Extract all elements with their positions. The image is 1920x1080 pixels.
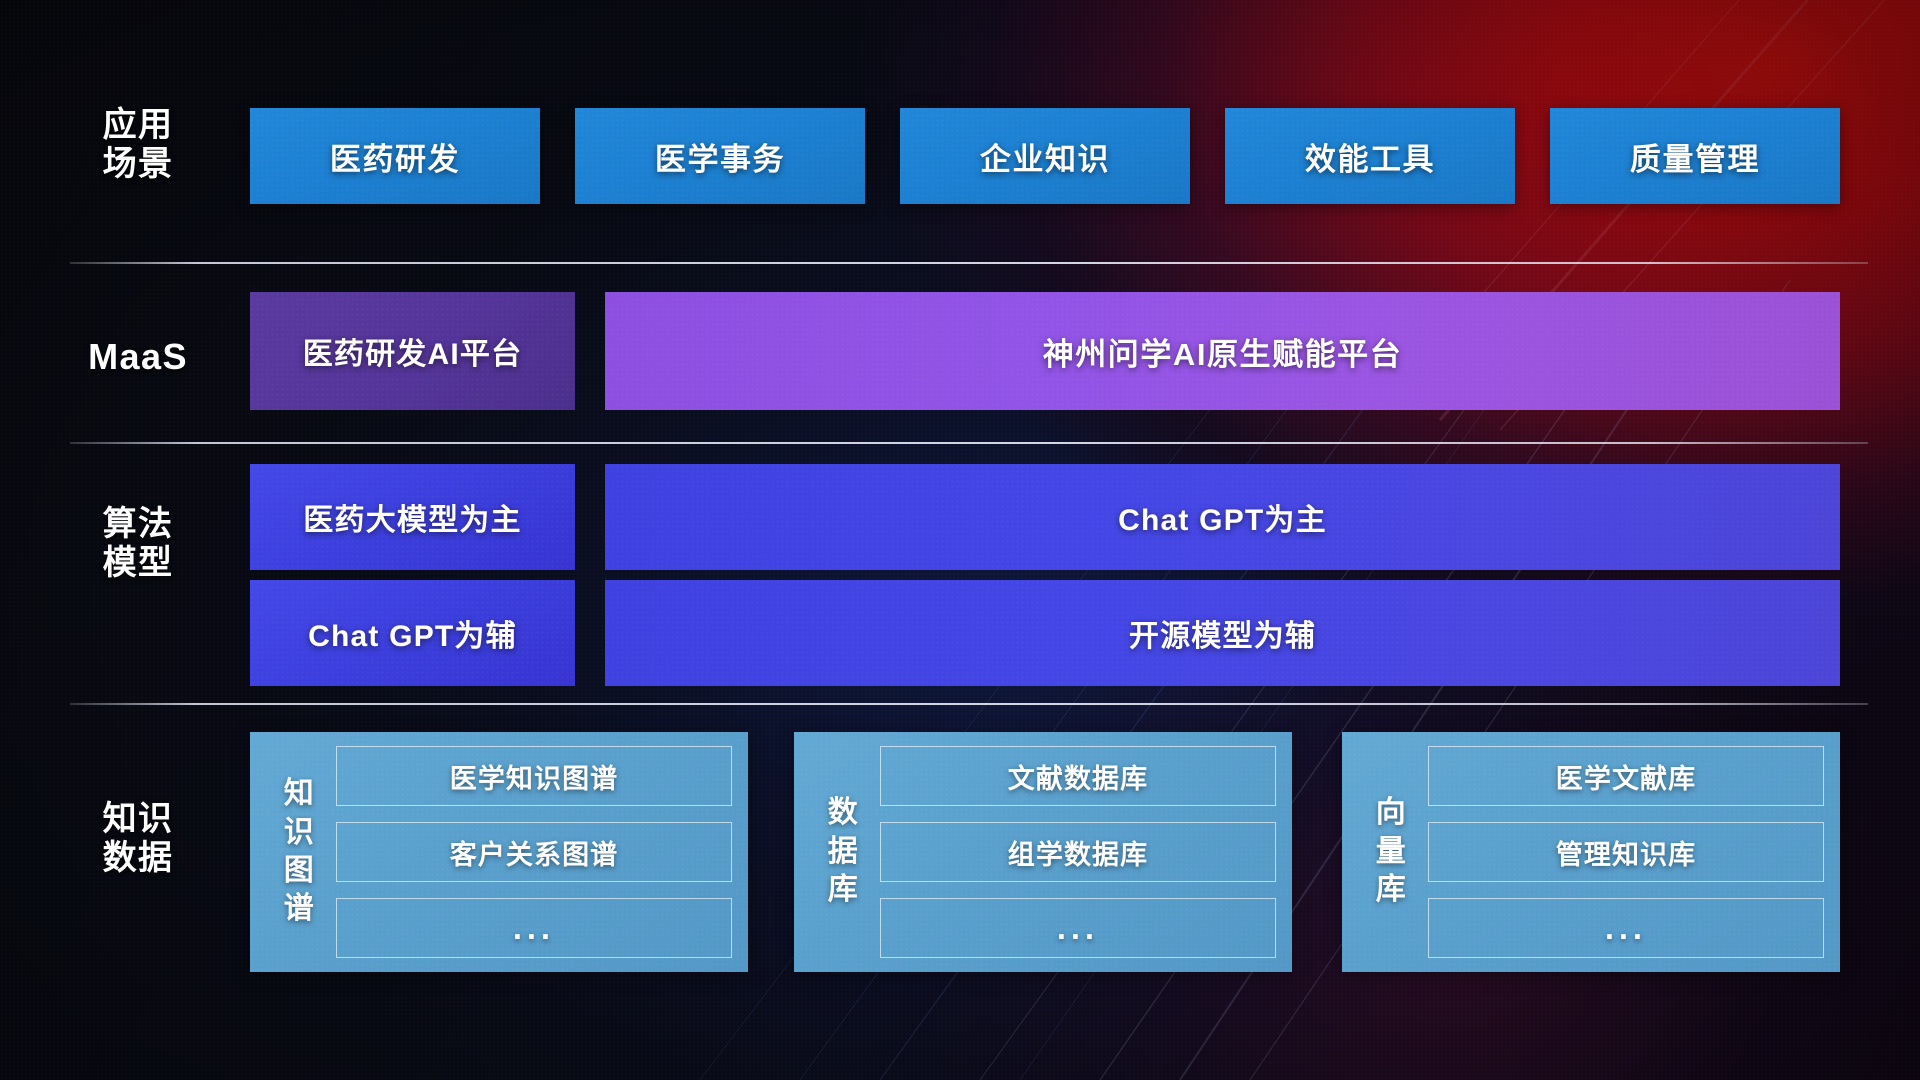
app-scenario-label-1: 医药研发 [330, 134, 460, 179]
knowledge-item-1-3[interactable]: ... [336, 898, 732, 958]
row-label-algorithm-model: 算法 模型 [70, 505, 206, 584]
knowledge-item-1-2[interactable]: 客户关系图谱 [336, 822, 732, 882]
algo-model-box-right-1[interactable]: Chat GPT为主 [605, 464, 1840, 570]
knowledge-item-3-2[interactable]: 管理知识库 [1428, 822, 1824, 882]
knowledge-panel-vertical-label-2: 数 据 库 [806, 746, 880, 958]
knowledge-item-label-1-1: 医学知识图谱 [450, 757, 618, 796]
knowledge-item-3-3[interactable]: ... [1428, 898, 1824, 958]
algo-model-label-right-1: Chat GPT为主 [1118, 495, 1327, 539]
algo-model-label-left-1: 医药大模型为主 [303, 495, 521, 539]
app-scenario-label-4: 效能工具 [1305, 134, 1435, 179]
algo-model-box-right-2[interactable]: 开源模型为辅 [605, 580, 1840, 686]
row-label-application-scenarios: 应用 场景 [70, 106, 206, 185]
algo-model-box-left-1[interactable]: 医药大模型为主 [250, 464, 575, 570]
app-scenario-label-3: 企业知识 [980, 134, 1110, 179]
divider-1 [70, 262, 1868, 264]
algo-model-label-right-2: 开源模型为辅 [1129, 611, 1316, 655]
knowledge-item-2-3[interactable]: ... [880, 898, 1276, 958]
knowledge-panel-vertical-label-1: 知 识 图 谱 [262, 746, 336, 958]
app-scenario-label-2: 医学事务 [655, 134, 785, 179]
knowledge-item-1-1[interactable]: 医学知识图谱 [336, 746, 732, 806]
knowledge-item-label-2-1: 文献数据库 [1008, 757, 1148, 796]
maas-left-label: 医药研发AI平台 [303, 329, 523, 373]
knowledge-panel-vertical-label-3: 向 量 库 [1354, 746, 1428, 958]
app-scenario-box-4[interactable]: 效能工具 [1225, 108, 1515, 204]
knowledge-panel-database[interactable]: 数 据 库 文献数据库 组学数据库 ... [794, 732, 1292, 972]
knowledge-item-3-1[interactable]: 医学文献库 [1428, 746, 1824, 806]
knowledge-item-label-3-2: 管理知识库 [1556, 833, 1696, 872]
app-scenario-box-1[interactable]: 医药研发 [250, 108, 540, 204]
app-scenario-box-3[interactable]: 企业知识 [900, 108, 1190, 204]
divider-2 [70, 442, 1868, 444]
knowledge-item-label-3-3: ... [1605, 910, 1647, 947]
knowledge-item-label-1-2: 客户关系图谱 [450, 833, 618, 872]
knowledge-panel-items-2: 文献数据库 组学数据库 ... [880, 746, 1276, 958]
app-scenario-label-5: 质量管理 [1630, 134, 1760, 179]
app-scenario-box-2[interactable]: 医学事务 [575, 108, 865, 204]
knowledge-item-label-3-1: 医学文献库 [1556, 757, 1696, 796]
knowledge-panel-items-3: 医学文献库 管理知识库 ... [1428, 746, 1824, 958]
maas-platform-box-left[interactable]: 医药研发AI平台 [250, 292, 575, 410]
divider-3 [70, 703, 1868, 705]
app-scenario-box-5[interactable]: 质量管理 [1550, 108, 1840, 204]
knowledge-panel-vector-store[interactable]: 向 量 库 医学文献库 管理知识库 ... [1342, 732, 1840, 972]
knowledge-panel-knowledge-graph[interactable]: 知 识 图 谱 医学知识图谱 客户关系图谱 ... [250, 732, 748, 972]
knowledge-item-label-2-2: 组学数据库 [1008, 833, 1148, 872]
knowledge-panel-items-1: 医学知识图谱 客户关系图谱 ... [336, 746, 732, 958]
algo-model-label-left-2: Chat GPT为辅 [308, 611, 517, 655]
row-label-maas: MaaS [70, 336, 206, 378]
knowledge-item-label-2-3: ... [1057, 910, 1099, 947]
knowledge-item-2-1[interactable]: 文献数据库 [880, 746, 1276, 806]
algo-model-box-left-2[interactable]: Chat GPT为辅 [250, 580, 575, 686]
knowledge-item-label-1-3: ... [513, 910, 555, 947]
maas-right-label: 神州问学AI原生赋能平台 [1043, 329, 1403, 374]
row-label-knowledge-data: 知识 数据 [70, 800, 206, 879]
maas-platform-bar-right[interactable]: 神州问学AI原生赋能平台 [605, 292, 1840, 410]
knowledge-item-2-2[interactable]: 组学数据库 [880, 822, 1276, 882]
